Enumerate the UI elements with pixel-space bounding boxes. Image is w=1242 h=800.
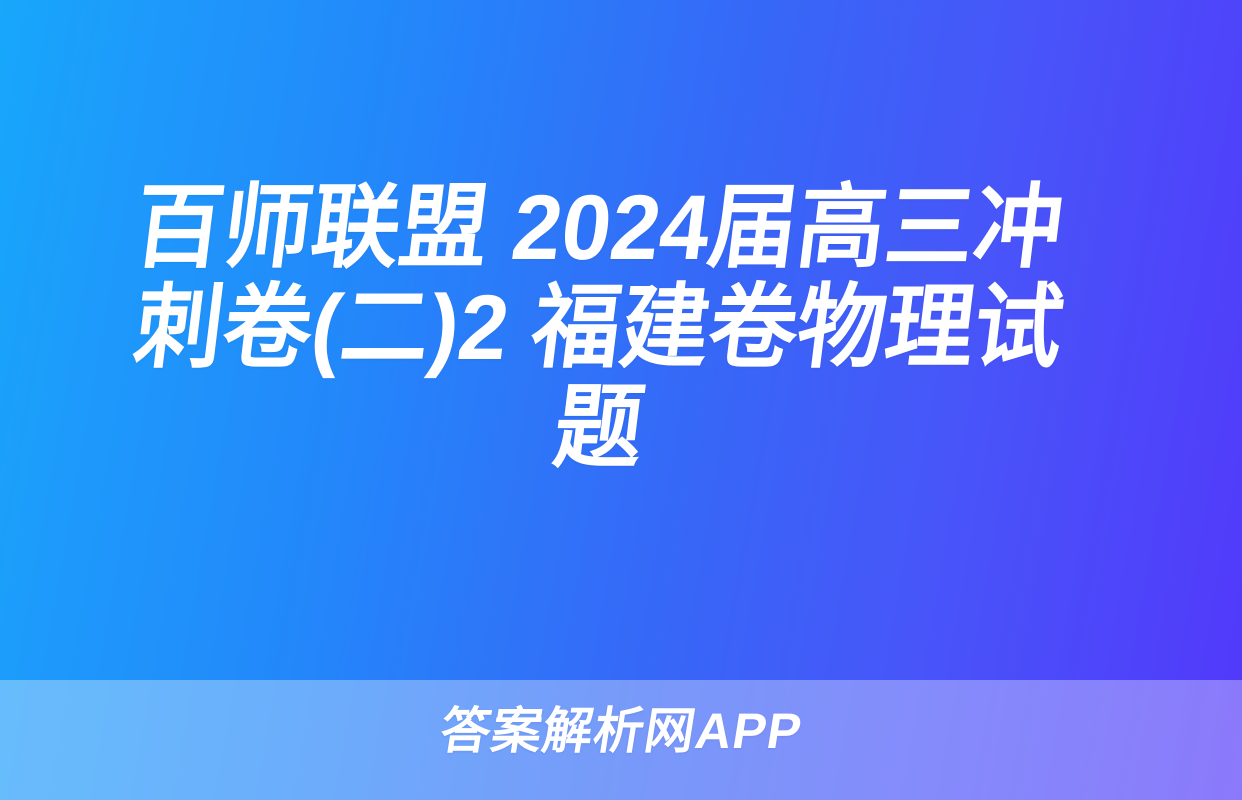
page-title: 百师联盟 2024届高三冲 刺卷(二)2 福建卷物理试 题 [0,178,1242,478]
share-card: 百师联盟 2024届高三冲 刺卷(二)2 福建卷物理试 题 答案解析网APP [0,0,1242,800]
title-line-2: 刺卷(二)2 福建卷物理试 [64,278,1134,378]
watermark-brand-label: 答案解析网APP [436,702,806,760]
title-line-3: 题 [64,378,1134,478]
title-line-1: 百师联盟 2024届高三冲 [64,178,1134,278]
watermark: 答案解析网APP [0,702,1242,760]
